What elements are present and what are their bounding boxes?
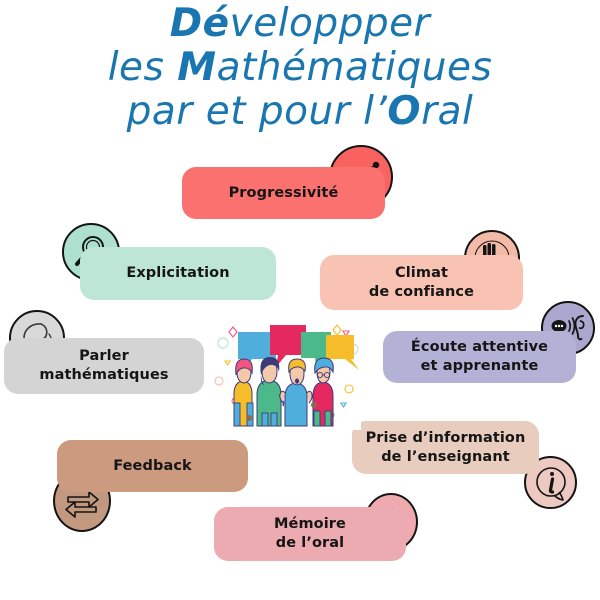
label-parler-line-1: Parler [79,347,129,366]
label-climat-line-2: de confiance [369,283,474,302]
label-ecoute-line-2: et apprenante [421,357,539,376]
pill-ecoute-attentive[interactable]: Écoute attentive et apprenante [383,331,576,383]
label-parler-line-2: mathématiques [39,366,168,385]
label-ecoute-line-1: Écoute attentive [411,338,548,357]
pill-progressivite[interactable]: Progressivité [182,167,385,219]
title-line-2: les Mathématiques [0,46,600,90]
label-memoire-line-2: de l’oral [276,534,345,553]
title-line-1: Développper [0,0,600,46]
pill-climat-de-confiance[interactable]: Climat de confiance [320,255,523,310]
pill-prise-dinformation[interactable]: Prise d’information de l’enseignant [352,421,539,474]
label-prise-line-1: Prise d’information [366,429,526,448]
group-discussion-icon [213,315,361,430]
four-people-speech-bubbles-illustration [213,315,361,430]
pill-feedback[interactable]: Feedback [57,440,248,492]
pill-explicitation[interactable]: Explicitation [80,247,276,300]
label-climat-line-1: Climat [395,264,448,283]
title-line-3: par et pour l’Oral [0,90,600,134]
label-feedback: Feedback [113,457,192,476]
label-progressivite: Progressivité [229,184,339,203]
label-explicitation: Explicitation [126,264,229,283]
pill-memoire-de-loral[interactable]: Mémoire de l’oral [214,507,406,561]
diagram-stage: Progressivité Explicitation [0,135,600,600]
pill-parler-mathematiques[interactable]: Parler mathématiques [4,338,204,394]
page-title: Développper les Mathématiques par et pou… [0,0,600,135]
label-memoire-line-1: Mémoire [274,515,346,534]
label-prise-line-2: de l’enseignant [381,448,510,467]
